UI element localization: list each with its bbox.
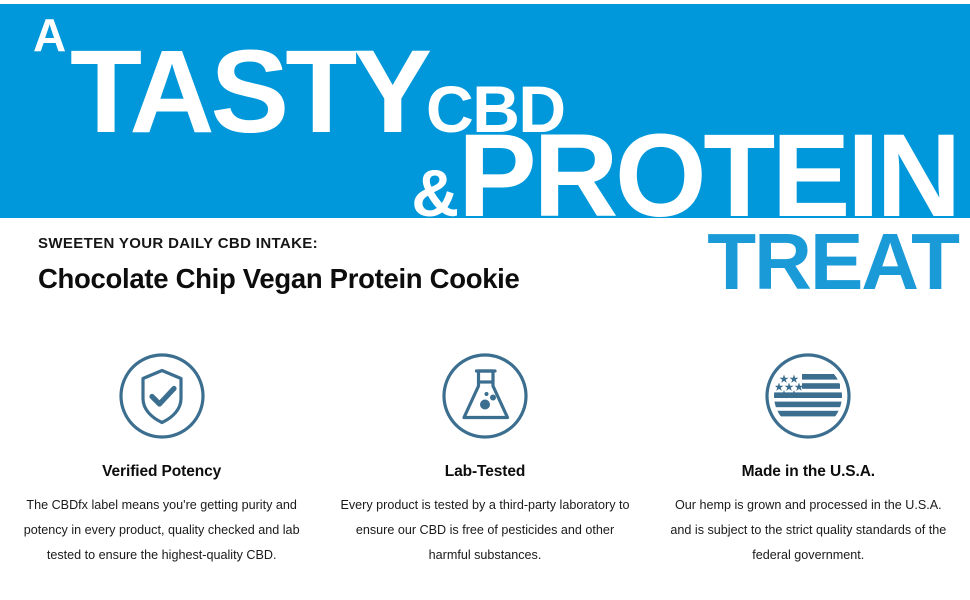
feature-row: Verified Potency The CBDfx label means y…: [0, 352, 970, 568]
feature-heading: Verified Potency: [102, 462, 221, 482]
feature-body: The CBDfx label means you're getting pur…: [17, 493, 307, 568]
lab-flask-icon: [441, 352, 529, 440]
hero-word-tasty: TASTY: [70, 26, 428, 158]
hero-ampersand: &: [411, 156, 458, 218]
feature-verified-potency: Verified Potency The CBDfx label means y…: [0, 352, 323, 568]
feature-heading: Lab-Tested: [445, 462, 526, 482]
feature-heading: Made in the U.S.A.: [742, 462, 875, 482]
hero-banner: A TASTYCBD &PROTEIN: [0, 4, 970, 218]
hero-word-treat: TREAT: [707, 222, 958, 302]
feature-lab-tested: Lab-Tested Every product is tested by a …: [323, 352, 646, 568]
usa-flag-icon: [764, 352, 852, 440]
subhead-block: SWEETEN YOUR DAILY CBD INTAKE: Chocolate…: [38, 234, 520, 295]
feature-body: Every product is tested by a third-party…: [340, 493, 630, 568]
product-title: Chocolate Chip Vegan Protein Cookie: [38, 263, 520, 295]
eyebrow-text: SWEETEN YOUR DAILY CBD INTAKE:: [38, 234, 520, 254]
feature-made-in-usa: Made in the U.S.A. Our hemp is grown and…: [647, 352, 970, 568]
feature-body: Our hemp is grown and processed in the U…: [663, 493, 953, 568]
hero-headline-line-2: &PROTEIN: [411, 117, 958, 218]
hero-word-protein: PROTEIN: [458, 110, 958, 218]
hero-article-a: A: [33, 12, 66, 58]
shield-check-icon: [118, 352, 206, 440]
